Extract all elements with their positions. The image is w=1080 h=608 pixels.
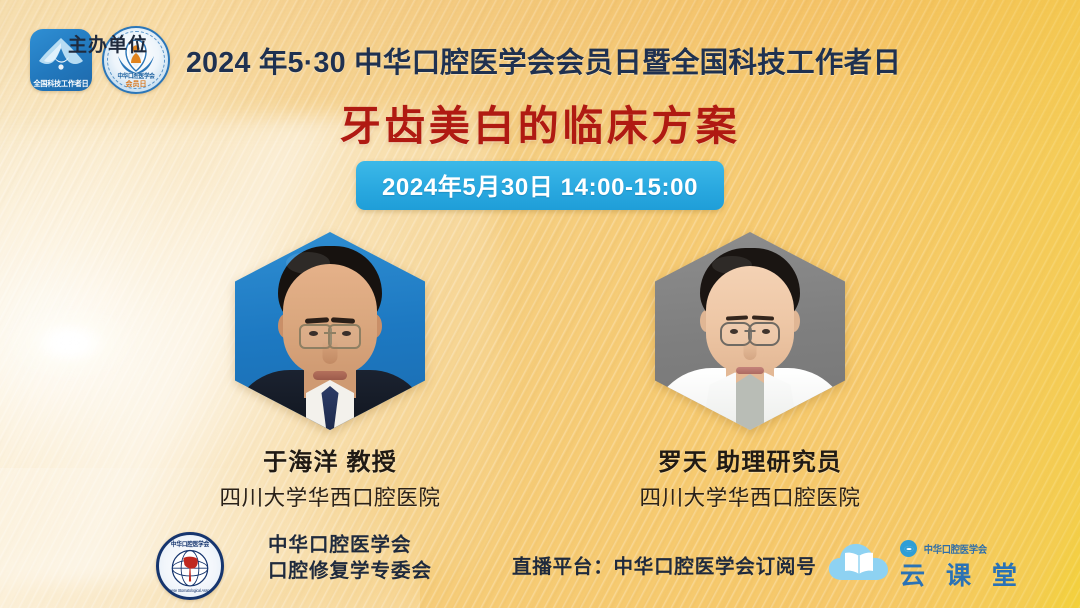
organizer-name-line1: 中华口腔医学会 (268, 532, 432, 558)
speaker-1-organization: 四川大学华西口腔医院 (200, 481, 460, 512)
science-day-logo-caption: 全国科技工作者日 (32, 79, 90, 88)
speaker-2-name: 罗天 助理研究员 (620, 442, 880, 477)
csa-eye-icon (900, 540, 917, 557)
speaker-card-1: 于海洋 教授 四川大学华西口腔医院 (200, 232, 460, 512)
portrait-brow-right (752, 315, 774, 320)
header-row: 全国科技工作者日 中华口腔医学会 会员日 2024 年5·30 中华口腔医学会会… (30, 26, 901, 94)
cloud-book-icon (826, 540, 892, 584)
speaker-1-photo-hex (235, 232, 425, 430)
cloud-assoc-row: 中华口腔医学会 (900, 540, 990, 557)
portrait-nose (744, 340, 757, 360)
speaker-2-photo-hex (655, 232, 845, 430)
datetime-badge: 2024年5月30日 14:00-15:00 (356, 161, 724, 210)
csa-logo-en-text: Chinese Stomatological Association (164, 588, 216, 593)
speaker-1-name: 于海洋 教授 (200, 442, 460, 477)
portrait-mouth (736, 367, 764, 374)
portrait-mouth (313, 371, 347, 380)
page-title: 牙齿美白的临床方案 (0, 92, 1080, 152)
organizer-label: 主办单位 (68, 30, 148, 57)
portrait-brow-left (305, 317, 329, 324)
event-title: 2024 年5·30 中华口腔医学会会员日暨全国科技工作者日 (186, 40, 901, 81)
cloud-product-name: 云 课 堂 (900, 556, 1024, 592)
avatar (655, 232, 845, 430)
csa-logo: 中华口腔医学会 Chinese Stomatological Associati… (156, 532, 224, 600)
organizer-name: 中华口腔医学会 口腔修复学专委会 (268, 532, 432, 584)
glasses-bridge (745, 330, 756, 332)
speaker-card-2: 罗天 助理研究员 四川大学华西口腔医院 (620, 232, 880, 512)
portrait-face (706, 266, 794, 374)
date-badge-container: 2024年5月30日 14:00-15:00 (0, 161, 1080, 210)
organizer-name-line2: 口腔修复学专委会 (268, 558, 432, 584)
cloud-assoc-text: 中华口腔医学会 (924, 541, 987, 556)
glasses-bridge (324, 332, 336, 334)
broadcast-platform: 直播平台：中华口腔医学会订阅号 (512, 550, 817, 579)
speaker-2-organization: 四川大学华西口腔医院 (620, 481, 880, 512)
portrait-brow-right (331, 317, 355, 324)
member-day-caption: 会员日 (104, 79, 168, 89)
portrait-nose (323, 342, 338, 364)
speakers-row: 于海洋 教授 四川大学华西口腔医院 (0, 232, 1080, 512)
cloud-classroom-logo: 中华口腔医学会 云 课 堂 (826, 534, 1026, 590)
portrait-face (283, 264, 377, 376)
portrait-brow-left (726, 315, 748, 320)
webinar-poster: 全国科技工作者日 中华口腔医学会 会员日 2024 年5·30 中华口腔医学会会… (0, 0, 1080, 608)
avatar (235, 232, 425, 430)
